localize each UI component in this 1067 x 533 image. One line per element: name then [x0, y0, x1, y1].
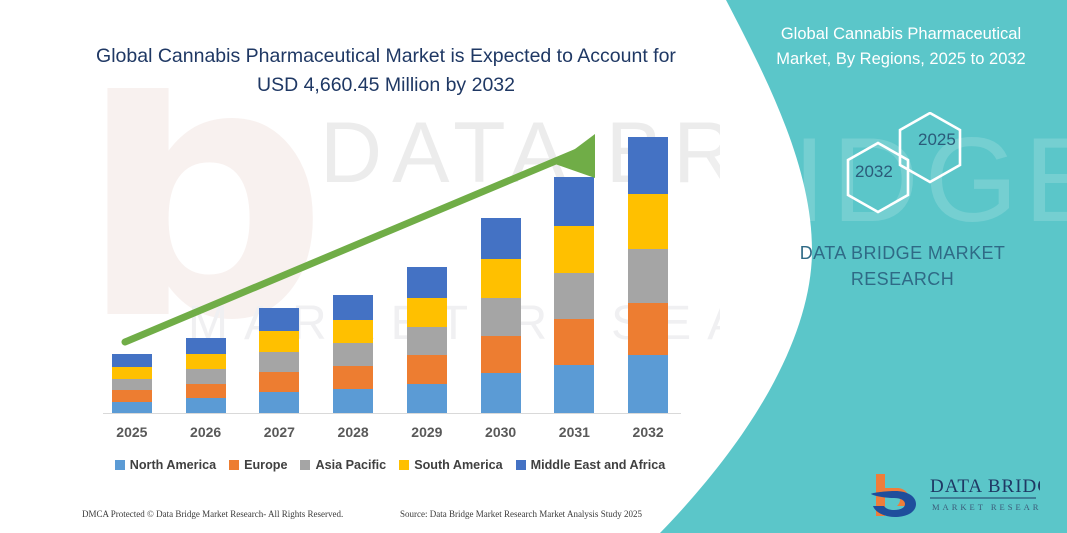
bar-segment [112, 390, 152, 402]
hexagon-label-2025: 2025 [918, 130, 956, 150]
bar-segment [628, 249, 668, 303]
bar-group [95, 120, 685, 413]
bar-segment [481, 298, 521, 336]
legend-label: Asia Pacific [315, 458, 386, 472]
bar-segment [554, 177, 594, 226]
bar-segment [259, 392, 299, 413]
bar-segment [259, 352, 299, 372]
bar-segment [407, 267, 447, 298]
x-axis-label: 2032 [628, 424, 668, 440]
bar-segment [333, 389, 373, 413]
bar-segment [481, 218, 521, 259]
legend-label: South America [414, 458, 502, 472]
bar-segment [186, 369, 226, 384]
x-axis-label: 2030 [481, 424, 521, 440]
bar-segment [628, 137, 668, 195]
legend-item-middle-east-and-africa[interactable]: Middle East and Africa [516, 458, 666, 472]
bar-segment [186, 398, 226, 413]
bar-2031[interactable] [554, 177, 594, 413]
chart-plot-area [95, 120, 685, 414]
bar-2027[interactable] [259, 308, 299, 413]
hexagon-pair-icon [830, 112, 990, 222]
legend-item-asia-pacific[interactable]: Asia Pacific [300, 458, 386, 472]
logo-text-bottom: MARKET RESEARCH [932, 502, 1040, 512]
bar-segment [554, 365, 594, 413]
bar-2028[interactable] [333, 295, 373, 413]
bar-segment [407, 327, 447, 355]
bar-segment [407, 384, 447, 413]
legend-swatch-icon [516, 460, 526, 470]
bar-segment [628, 355, 668, 413]
legend-swatch-icon [300, 460, 310, 470]
bar-segment [628, 303, 668, 355]
page-title: Global Cannabis Pharmaceutical Market is… [86, 42, 686, 101]
bar-2029[interactable] [407, 267, 447, 413]
bar-segment [554, 319, 594, 365]
hexagon-label-2032: 2032 [855, 162, 893, 182]
legend-label: Middle East and Africa [531, 458, 666, 472]
bar-segment [481, 373, 521, 413]
x-axis-label: 2031 [554, 424, 594, 440]
bar-segment [333, 343, 373, 366]
x-axis-label: 2028 [333, 424, 373, 440]
data-bridge-logo: DATA BRIDGE MARKET RESEARCH [868, 470, 1040, 518]
stacked-bar-chart [95, 120, 685, 420]
bar-segment [186, 354, 226, 369]
legend-item-north-america[interactable]: North America [115, 458, 216, 472]
bar-segment [112, 367, 152, 379]
x-axis-label: 2026 [186, 424, 226, 440]
bar-segment [554, 226, 594, 273]
bar-segment [481, 259, 521, 298]
panel-brand-line2: RESEARCH [795, 266, 1010, 292]
bar-segment [407, 298, 447, 327]
bar-segment [259, 372, 299, 392]
bar-segment [481, 336, 521, 374]
x-axis-label: 2029 [407, 424, 447, 440]
logo-text-top: DATA BRIDGE [930, 476, 1040, 497]
chart-legend: North AmericaEuropeAsia PacificSouth Ame… [95, 458, 685, 472]
bar-segment [112, 379, 152, 391]
bar-segment [112, 402, 152, 414]
footer-copyright: DMCA Protected © Data Bridge Market Rese… [82, 509, 343, 519]
legend-swatch-icon [115, 460, 125, 470]
legend-item-south-america[interactable]: South America [399, 458, 502, 472]
bar-segment [407, 355, 447, 383]
bar-segment [333, 320, 373, 343]
legend-item-europe[interactable]: Europe [229, 458, 287, 472]
legend-swatch-icon [399, 460, 409, 470]
panel-brand-text: DATA BRIDGE MARKET RESEARCH [795, 240, 1010, 292]
x-axis-line [103, 413, 681, 414]
bar-segment [554, 273, 594, 319]
bar-segment [259, 331, 299, 352]
x-axis-label: 2025 [112, 424, 152, 440]
legend-label: North America [130, 458, 216, 472]
bar-segment [186, 338, 226, 355]
bar-segment [112, 354, 152, 367]
bar-segment [628, 194, 668, 248]
bar-2032[interactable] [628, 137, 668, 413]
legend-swatch-icon [229, 460, 239, 470]
x-axis-label: 2027 [259, 424, 299, 440]
bar-2025[interactable] [112, 354, 152, 413]
bar-segment [259, 308, 299, 331]
bar-segment [333, 366, 373, 389]
legend-label: Europe [244, 458, 287, 472]
footer-source: Source: Data Bridge Market Research Mark… [400, 509, 642, 519]
bar-segment [186, 384, 226, 399]
infographic-root: b DATA BRIDGE MARKET RESEARCH RIDGE Glob… [0, 0, 1067, 533]
panel-title: Global Cannabis Pharmaceutical Market, B… [756, 22, 1046, 72]
bar-2030[interactable] [481, 218, 521, 413]
panel-brand-line1: DATA BRIDGE MARKET [795, 240, 1010, 266]
bar-2026[interactable] [186, 338, 226, 413]
x-axis-labels: 20252026202720282029203020312032 [95, 424, 685, 440]
bar-segment [333, 295, 373, 320]
